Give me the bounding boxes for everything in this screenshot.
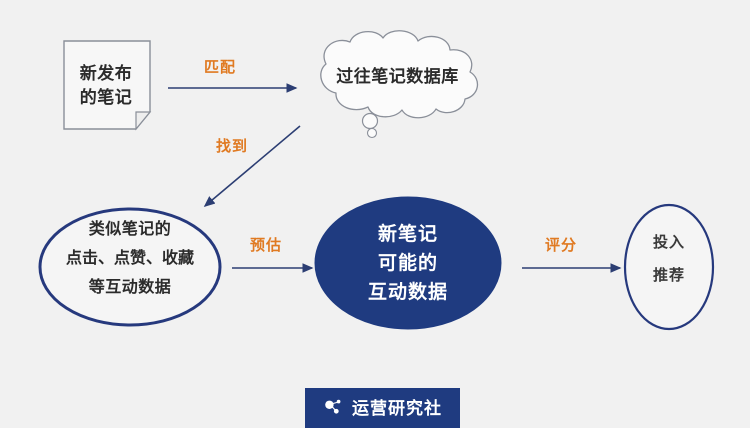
- connector-label-score: 评分: [545, 238, 577, 253]
- note-label: 新发布 的笔记: [64, 48, 148, 122]
- note-label-line-2: 的笔记: [80, 89, 133, 106]
- cloud-label: 过往笔记数据库: [305, 68, 490, 85]
- brand-logo-bar: 运营研究社: [305, 388, 460, 428]
- diagram-canvas: 新发布 的笔记 过往笔记数据库 类似笔记的 点击、点赞、收藏 等互动数据 新笔记…: [0, 0, 750, 422]
- ellipse-left-label-line-2: 点击、点赞、收藏: [66, 251, 194, 267]
- ellipse-right-label: 投入 推荐: [622, 235, 716, 283]
- ellipse-center-label-line-2: 可能的: [378, 254, 438, 273]
- ellipse-center-label-line-1: 新笔记: [378, 225, 438, 244]
- ellipse-left-label-line-3: 等互动数据: [89, 280, 172, 296]
- ellipse-right-label-line-2: 推荐: [653, 268, 685, 283]
- ellipse-center-label: 新笔记 可能的 互动数据: [325, 225, 491, 302]
- ellipse-center-label-line-3: 互动数据: [368, 283, 448, 302]
- node-cluster-icon: [323, 397, 345, 419]
- ellipse-left-label: 类似笔记的 点击、点赞、收藏 等互动数据: [40, 222, 220, 296]
- ellipse-left-label-line-1: 类似笔记的: [89, 222, 172, 238]
- brand-logo-text: 运营研究社: [352, 400, 442, 417]
- ellipse-right-label-line-1: 投入: [653, 235, 685, 250]
- connector-label-find: 找到: [216, 139, 248, 154]
- note-label-line-1: 新发布: [80, 65, 133, 82]
- connector-label-match: 匹配: [204, 60, 236, 75]
- connector-label-estimate: 预估: [250, 238, 282, 253]
